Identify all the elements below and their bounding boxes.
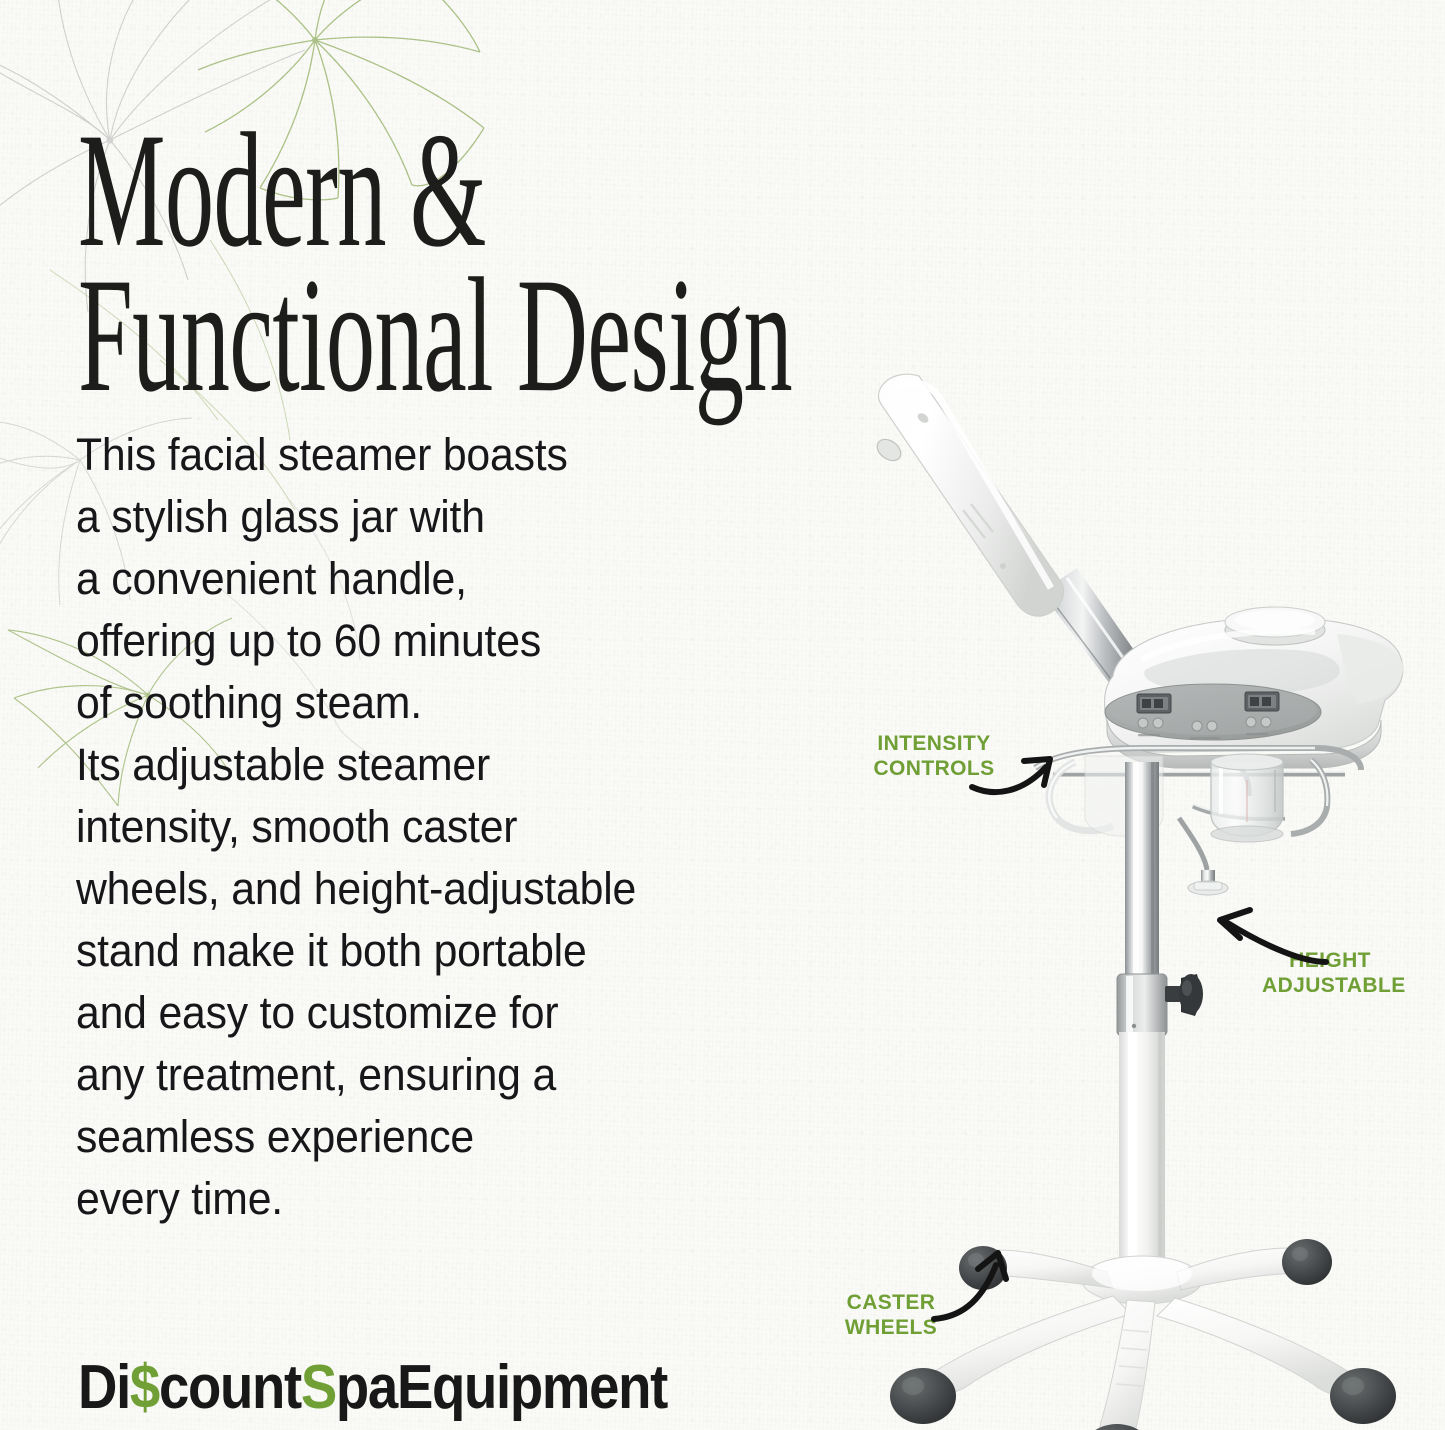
annotation-line-1: CASTER bbox=[836, 1290, 946, 1315]
logo-part-1: Di bbox=[78, 1353, 130, 1422]
chrome-pole bbox=[1125, 762, 1159, 984]
lcd-display-right bbox=[1245, 692, 1279, 711]
lcd-display-left bbox=[1137, 694, 1171, 713]
body-line: offering up to 60 minutes bbox=[76, 610, 836, 672]
annotation-intensity-controls: INTENSITY CONTROLS bbox=[866, 731, 1002, 781]
white-pole bbox=[1119, 1032, 1165, 1282]
caster-wheel bbox=[1081, 1424, 1153, 1430]
annotation-line-2: ADJUSTABLE bbox=[1262, 973, 1398, 998]
body-line: intensity, smooth caster bbox=[76, 796, 836, 858]
body-line: a convenient handle, bbox=[76, 548, 836, 610]
caster-wheel bbox=[1330, 1368, 1396, 1424]
headline-line-2: Functional Design bbox=[78, 261, 750, 412]
brand-logo: Di$countSpaEquipment bbox=[78, 1352, 667, 1423]
product-image-facial-steamer bbox=[845, 370, 1445, 1430]
annotation-line-2: WHEELS bbox=[836, 1315, 946, 1340]
logo-s-glyph: S bbox=[301, 1353, 336, 1422]
body-line: of soothing steam. bbox=[76, 672, 836, 734]
body-line: and easy to customize for bbox=[76, 982, 836, 1044]
caster-wheel bbox=[890, 1368, 956, 1424]
caster-wheel bbox=[1282, 1239, 1332, 1285]
caster-wheel bbox=[959, 1246, 1007, 1290]
body-copy: This facial steamer boasts a stylish gla… bbox=[76, 424, 836, 1230]
body-line: Its adjustable steamer bbox=[76, 734, 836, 796]
body-paragraph: This facial steamer boasts a stylish gla… bbox=[76, 424, 836, 1230]
annotation-caster-wheels: CASTER WHEELS bbox=[836, 1290, 946, 1340]
annotation-line-2: CONTROLS bbox=[866, 756, 1002, 781]
body-line: every time. bbox=[76, 1168, 836, 1230]
logo-dollar-glyph: $ bbox=[130, 1353, 159, 1422]
body-line: wheels, and height-adjustable bbox=[76, 858, 836, 920]
page-title: Modern & Functional Design bbox=[78, 116, 1198, 412]
body-line: This facial steamer boasts bbox=[76, 424, 836, 486]
height-adjust-collar bbox=[1117, 974, 1167, 1036]
annotation-line-1: INTENSITY bbox=[866, 731, 1002, 756]
top-cap bbox=[1225, 607, 1325, 645]
logo-part-2: count bbox=[159, 1353, 301, 1422]
promo-graphic-canvas: Modern & Functional Design This facial s… bbox=[0, 0, 1445, 1430]
bracket-clamp bbox=[1188, 870, 1228, 895]
logo-part-3: paEquipment bbox=[336, 1353, 667, 1422]
body-line: a stylish glass jar with bbox=[76, 486, 836, 548]
annotation-line-1: HEIGHT bbox=[1262, 948, 1398, 973]
body-line: seamless experience bbox=[76, 1106, 836, 1168]
body-line: any treatment, ensuring a bbox=[76, 1044, 836, 1106]
annotation-height-adjustable: HEIGHT ADJUSTABLE bbox=[1262, 948, 1398, 998]
body-line: stand make it both portable bbox=[76, 920, 836, 982]
control-panel[interactable] bbox=[1105, 684, 1321, 740]
height-knob[interactable] bbox=[1165, 974, 1203, 1016]
